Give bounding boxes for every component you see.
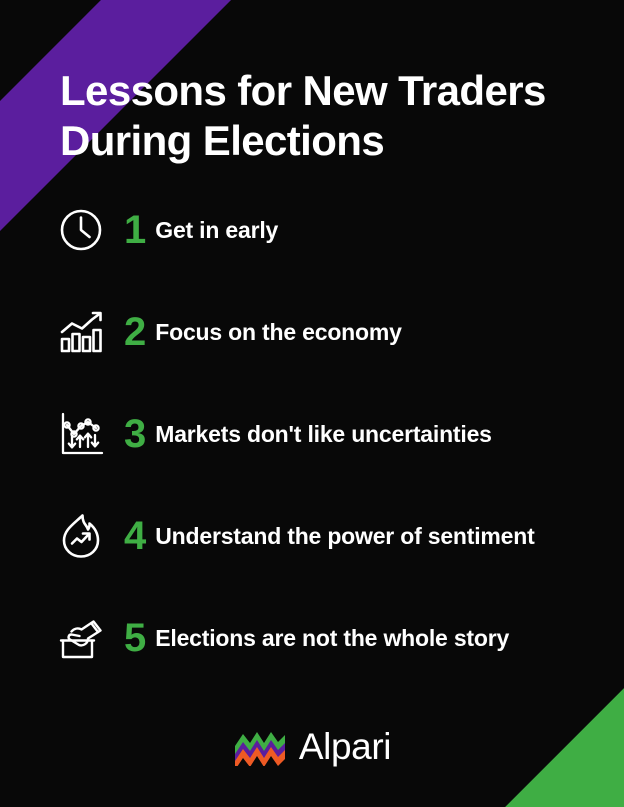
lesson-label: Get in early bbox=[155, 219, 278, 242]
lesson-number: 1 bbox=[124, 210, 146, 250]
clock-icon bbox=[52, 201, 110, 259]
list-item: 1 Get in early bbox=[52, 196, 612, 264]
lesson-number: 5 bbox=[124, 618, 146, 658]
lesson-label: Elections are not the whole story bbox=[155, 627, 509, 650]
lesson-number: 2 bbox=[124, 312, 146, 352]
ballot-box-vote-icon bbox=[52, 609, 110, 667]
list-item: 2 Focus on the economy bbox=[52, 298, 612, 366]
volatility-line-chart-icon bbox=[52, 405, 110, 463]
bar-chart-growth-icon bbox=[52, 303, 110, 361]
lesson-label: Markets don't like uncertainties bbox=[155, 423, 492, 446]
brand-name: Alpari bbox=[299, 728, 391, 765]
flame-trending-icon bbox=[52, 507, 110, 565]
lesson-number: 3 bbox=[124, 414, 146, 454]
list-item: 3 Markets don't like uncertainties bbox=[52, 400, 612, 468]
brand-footer: Alpari bbox=[0, 726, 624, 766]
list-item: 5 Elections are not the whole story bbox=[52, 604, 612, 672]
lesson-label: Focus on the economy bbox=[155, 321, 401, 344]
list-item: 4 Understand the power of sentiment bbox=[52, 502, 612, 570]
infographic-poster: Lessons for New Traders During Elections… bbox=[0, 0, 624, 807]
lesson-label: Understand the power of sentiment bbox=[155, 525, 534, 548]
alpari-zigzag-logo-icon bbox=[233, 726, 287, 766]
lessons-list: 1 Get in early 2 Focus on the economy bbox=[52, 196, 612, 706]
lesson-number: 4 bbox=[124, 516, 146, 556]
page-title: Lessons for New Traders During Elections bbox=[60, 66, 600, 165]
